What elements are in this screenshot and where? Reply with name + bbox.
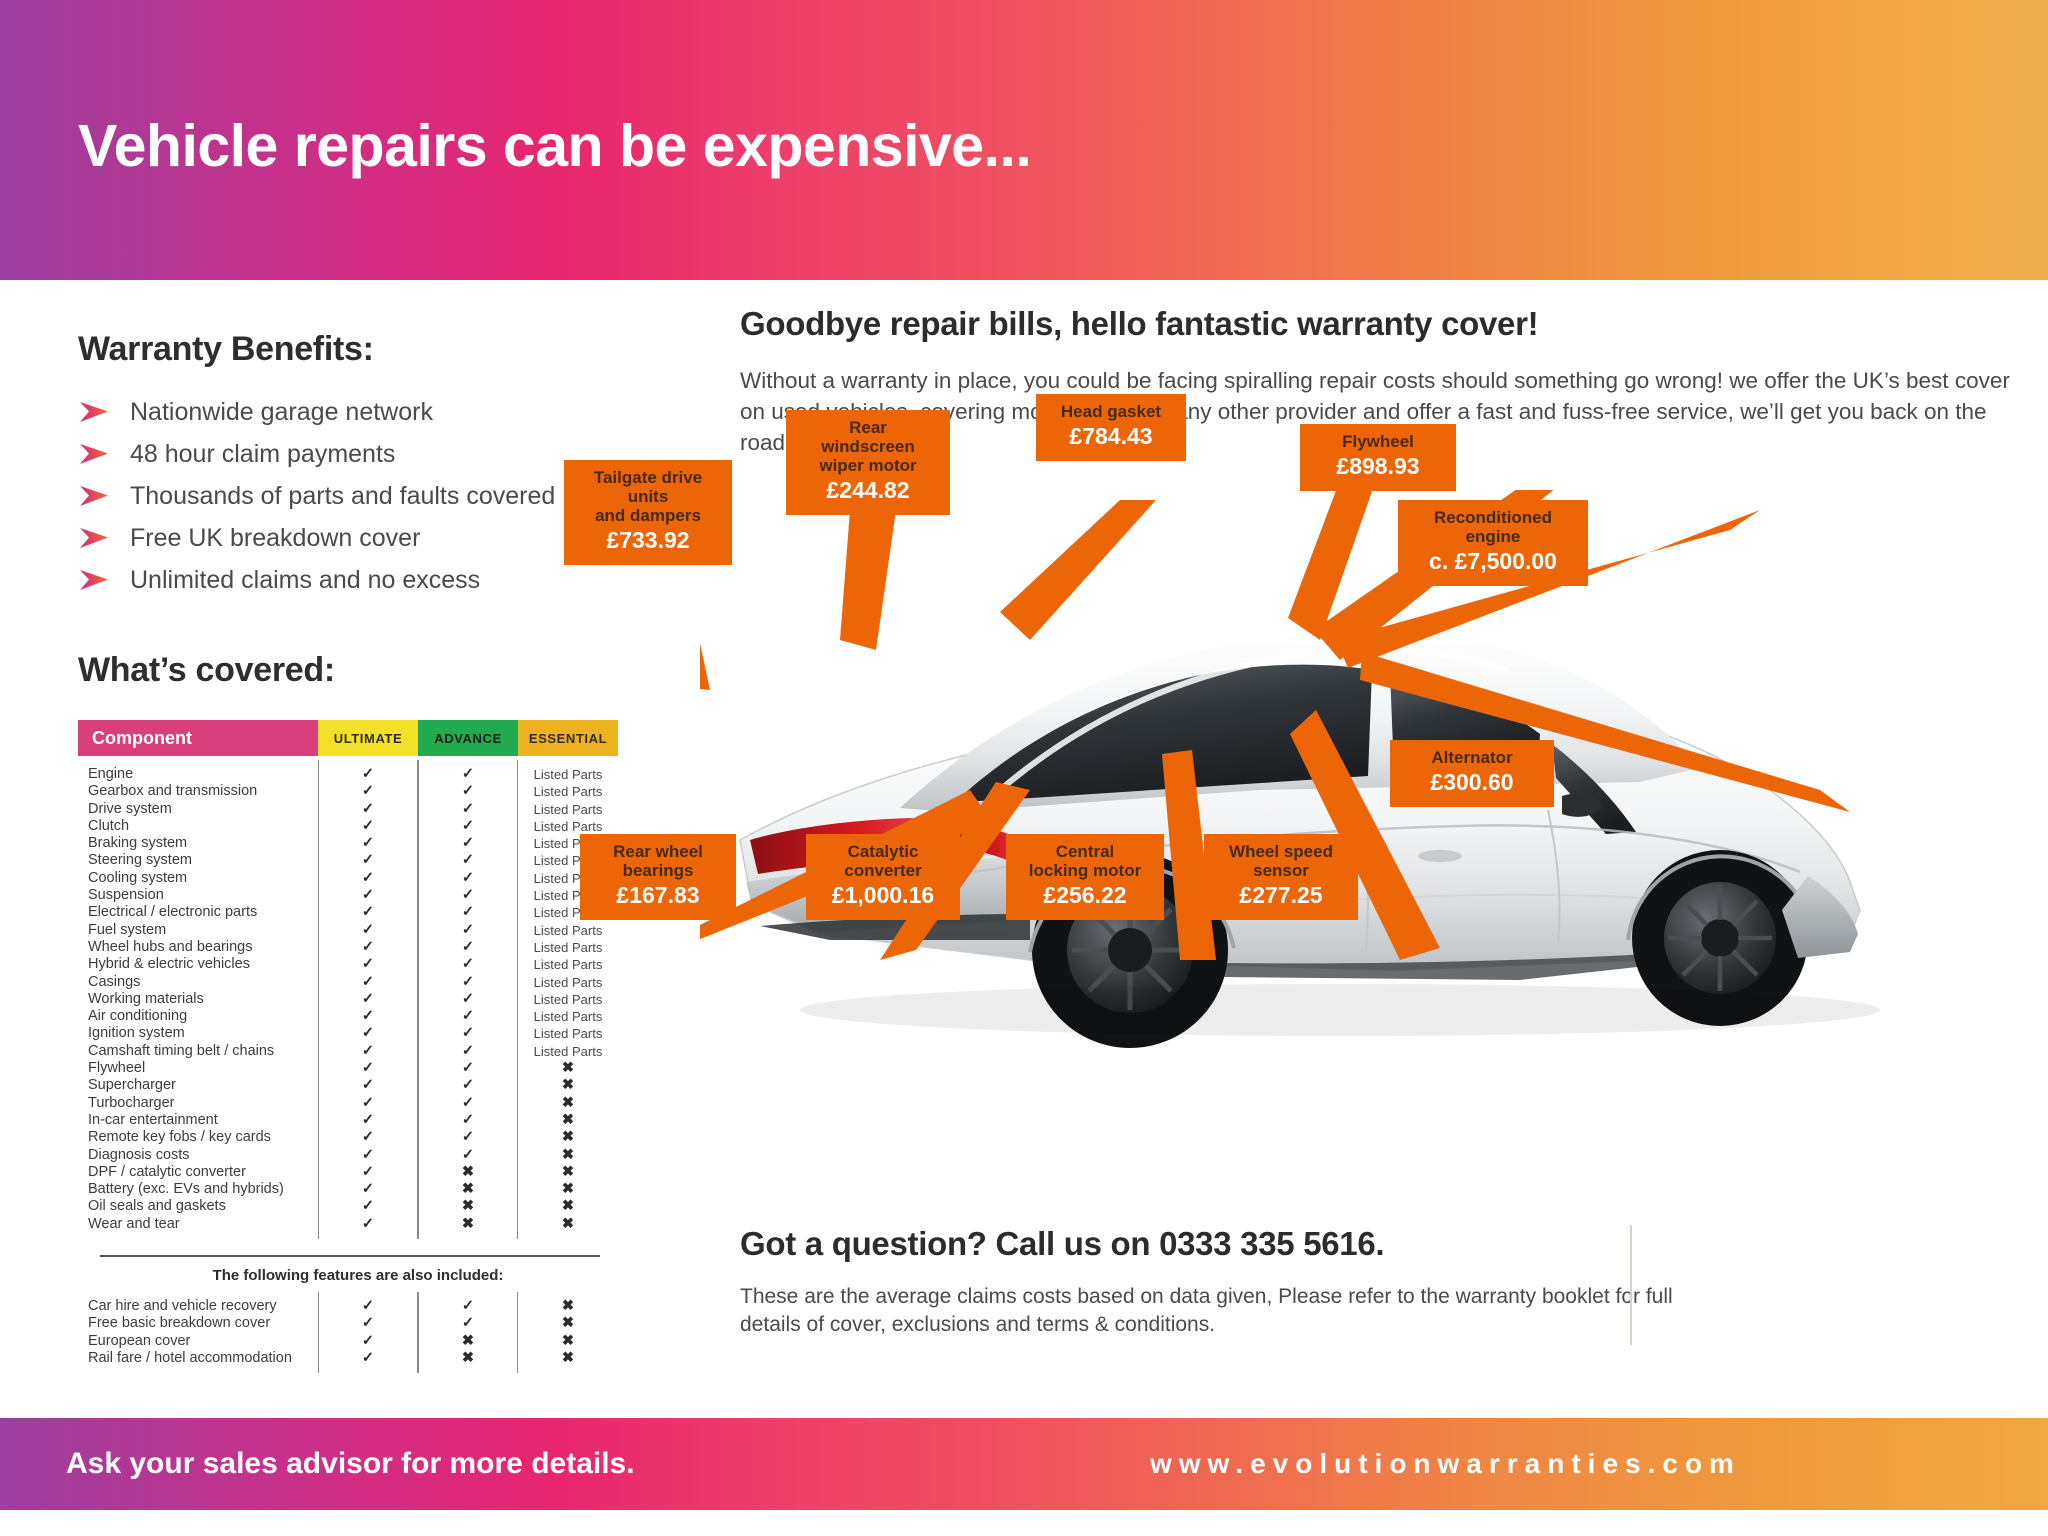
table-row: Drive system [88,801,318,818]
table-row: Cooling system [88,870,318,887]
check-icon: ✓ [318,1025,418,1042]
check-icon: ✓ [418,818,518,835]
check-icon: ✓ [318,1216,418,1233]
table-row: Oil seals and gaskets [88,1198,318,1215]
feature-ultimate-column: ✓✓✓✓ [318,1298,418,1367]
check-icon: ✓ [418,991,518,1008]
check-icon: ✓ [318,801,418,818]
listed-parts-label: Listed Parts [518,818,618,835]
callout-alternator: Alternator £300.60 [1390,740,1554,807]
chevron-right-icon [78,485,112,507]
callout-catalytic-converter: Catalyticconverter £1,000.16 [806,834,960,920]
check-icon: ✓ [318,1060,418,1077]
table-row: Turbocharger [88,1095,318,1112]
cross-icon: ✖ [418,1164,518,1181]
check-icon: ✓ [318,1095,418,1112]
table-row: Electrical / electronic parts [88,904,318,921]
table-row: DPF / catalytic converter [88,1164,318,1181]
callout-label: Catalyticconverter [820,842,946,880]
listed-parts-label: Listed Parts [518,1025,618,1042]
check-icon: ✓ [418,922,518,939]
callout-label: Flywheel [1314,432,1442,451]
list-item: Free UK breakdown cover [78,517,648,559]
check-icon: ✓ [418,1315,518,1332]
car-diagram: Tailgate drive unitsand dampers £733.92 … [700,490,2030,1180]
column-header-component: Component [78,720,318,756]
chevron-right-icon [78,401,112,423]
callout-reconditioned-engine: Reconditionedengine c. £7,500.00 [1398,500,1588,586]
table-row: Steering system [88,852,318,869]
table-row: Flywheel [88,1060,318,1077]
check-icon: ✓ [318,1164,418,1181]
table-row: Wheel hubs and bearings [88,939,318,956]
advance-marks-column: ✓✓✓✓✓✓✓✓✓✓✓✓✓✓✓✓✓✓✓✓✓✓✓✖✖✖✖ [418,766,518,1233]
benefit-label: Nationwide garage network [130,398,433,427]
table-row: Fuel system [88,922,318,939]
listed-parts-label: Listed Parts [518,1043,618,1060]
check-icon: ✓ [318,974,418,991]
callout-label: Tailgate drive unitsand dampers [578,468,718,525]
callout-price: £244.82 [800,477,936,504]
table-row: Air conditioning [88,1008,318,1025]
chevron-right-icon [78,443,112,465]
cross-icon: ✖ [418,1216,518,1233]
warranty-benefits-heading: Warranty Benefits: [78,330,648,369]
listed-parts-label: Listed Parts [518,1008,618,1025]
callout-label: Rear windscreenwiper motor [800,418,936,475]
check-icon: ✓ [418,1129,518,1146]
callout-flywheel: Flywheel £898.93 [1300,424,1456,491]
check-icon: ✓ [318,870,418,887]
bottom-white-strip [0,1510,2048,1536]
table-row: Engine [88,766,318,783]
callout-wheel-speed-sensor: Wheel speedsensor £277.25 [1204,834,1358,920]
callout-price: £300.60 [1404,769,1540,796]
coverage-table: Component ULTIMATE ADVANCE ESSENTIAL Eng… [78,720,638,1367]
chevron-right-icon [78,569,112,591]
ultimate-marks-column: ✓✓✓✓✓✓✓✓✓✓✓✓✓✓✓✓✓✓✓✓✓✓✓✓✓✓✓ [318,766,418,1233]
contact-block: Got a question? Call us on 0333 335 5616… [740,1225,1690,1339]
features-body: Car hire and vehicle recoveryFree basic … [78,1298,638,1367]
cross-icon: ✖ [418,1198,518,1215]
callout-price: £898.93 [1314,453,1442,480]
table-row: Wear and tear [88,1216,318,1233]
check-icon: ✓ [418,1025,518,1042]
callout-tailgate: Tailgate drive unitsand dampers £733.92 [564,460,732,565]
table-row: Car hire and vehicle recovery [88,1298,318,1315]
list-item: Nationwide garage network [78,391,648,433]
check-icon: ✓ [318,1008,418,1025]
cross-icon: ✖ [518,1298,618,1315]
check-icon: ✓ [418,1060,518,1077]
cross-icon: ✖ [518,1060,618,1077]
table-row: Camshaft timing belt / chains [88,1043,318,1060]
table-row: Ignition system [88,1025,318,1042]
table-row: Supercharger [88,1077,318,1094]
cross-icon: ✖ [518,1333,618,1350]
callout-price: £1,000.16 [820,882,946,909]
cross-icon: ✖ [518,1198,618,1215]
check-icon: ✓ [418,852,518,869]
check-icon: ✓ [418,1112,518,1129]
check-icon: ✓ [318,956,418,973]
table-row: Clutch [88,818,318,835]
check-icon: ✓ [318,766,418,783]
check-icon: ✓ [418,835,518,852]
benefit-label: Thousands of parts and faults covered [130,482,555,511]
check-icon: ✓ [418,870,518,887]
check-icon: ✓ [318,1333,418,1350]
check-icon: ✓ [418,1008,518,1025]
column-header-ultimate: ULTIMATE [318,720,418,756]
table-row: In-car entertainment [88,1112,318,1129]
cross-icon: ✖ [518,1350,618,1367]
check-icon: ✓ [318,904,418,921]
contact-heading: Got a question? Call us on 0333 335 5616… [740,1225,1690,1263]
listed-parts-label: Listed Parts [518,939,618,956]
table-row: Rail fare / hotel accommodation [88,1350,318,1367]
check-icon: ✓ [418,956,518,973]
check-icon: ✓ [318,1298,418,1315]
check-icon: ✓ [418,801,518,818]
check-icon: ✓ [318,852,418,869]
table-row: Working materials [88,991,318,1008]
table-row: Suspension [88,887,318,904]
table-row: Braking system [88,835,318,852]
callout-price: £784.43 [1050,423,1172,450]
feature-essential-column: ✖✖✖✖ [518,1298,618,1367]
feature-name-column: Car hire and vehicle recoveryFree basic … [78,1298,318,1367]
vertical-divider [1630,1225,1632,1345]
check-icon: ✓ [318,835,418,852]
table-row: Battery (exc. EVs and hybrids) [88,1181,318,1198]
column-header-essential: ESSENTIAL [518,720,618,756]
list-item: Unlimited claims and no excess [78,559,648,601]
cross-icon: ✖ [418,1350,518,1367]
callout-price: £256.22 [1020,882,1150,909]
cross-icon: ✖ [518,1164,618,1181]
callout-rear-wheel-bearings: Rear wheelbearings £167.83 [580,834,736,920]
table-row: Casings [88,974,318,991]
check-icon: ✓ [318,1315,418,1332]
cross-icon: ✖ [418,1333,518,1350]
check-icon: ✓ [318,922,418,939]
callout-label: Rear wheelbearings [594,842,722,880]
callout-central-locking-motor: Centrallocking motor £256.22 [1006,834,1164,920]
listed-parts-label: Listed Parts [518,766,618,783]
footer-website-link[interactable]: www.evolutionwarranties.com [1150,1448,1741,1480]
callout-price: £167.83 [594,882,722,909]
benefit-label: 48 hour claim payments [130,440,395,469]
list-item: Thousands of parts and faults covered [78,475,648,517]
check-icon: ✓ [418,887,518,904]
listed-parts-label: Listed Parts [518,956,618,973]
check-icon: ✓ [318,887,418,904]
table-row: European cover [88,1333,318,1350]
left-column: Warranty Benefits: Nationwide garage net… [78,330,648,1367]
table-row: Gearbox and transmission [88,783,318,800]
table-header-row: Component ULTIMATE ADVANCE ESSENTIAL [78,720,638,756]
benefit-label: Free UK breakdown cover [130,524,420,553]
check-icon: ✓ [418,1147,518,1164]
column-header-advance: ADVANCE [418,720,518,756]
top-banner: Vehicle repairs can be expensive... [0,0,2048,280]
cross-icon: ✖ [518,1077,618,1094]
check-icon: ✓ [418,904,518,921]
callout-price: c. £7,500.00 [1412,548,1574,575]
check-icon: ✓ [418,1298,518,1315]
right-heading: Goodbye repair bills, hello fantastic wa… [740,305,2010,343]
check-icon: ✓ [418,766,518,783]
check-icon: ✓ [318,1129,418,1146]
check-icon: ✓ [418,1043,518,1060]
listed-parts-label: Listed Parts [518,783,618,800]
disclaimer-text: These are the average claims costs based… [740,1283,1690,1339]
listed-parts-label: Listed Parts [518,974,618,991]
table-row: Diagnosis costs [88,1147,318,1164]
check-icon: ✓ [318,1077,418,1094]
check-icon: ✓ [418,974,518,991]
component-name-column: EngineGearbox and transmissionDrive syst… [78,766,318,1233]
list-item: 48 hour claim payments [78,433,648,475]
cross-icon: ✖ [518,1095,618,1112]
cross-icon: ✖ [518,1147,618,1164]
check-icon: ✓ [318,1198,418,1215]
listed-parts-label: Listed Parts [518,801,618,818]
cross-icon: ✖ [518,1315,618,1332]
check-icon: ✓ [418,939,518,956]
callout-label: Alternator [1404,748,1540,767]
warranty-benefits-list: Nationwide garage network 48 hour claim … [78,391,648,601]
cross-icon: ✖ [518,1216,618,1233]
check-icon: ✓ [318,1181,418,1198]
table-row: Hybrid & electric vehicles [88,956,318,973]
page-title: Vehicle repairs can be expensive... [78,112,1031,180]
table-body: EngineGearbox and transmissionDrive syst… [78,756,638,1233]
callout-label: Reconditionedengine [1412,508,1574,546]
callout-label: Wheel speedsensor [1218,842,1344,880]
callout-rear-windscreen-wiper-motor: Rear windscreenwiper motor £244.82 [786,410,950,515]
check-icon: ✓ [318,818,418,835]
check-icon: ✓ [318,1112,418,1129]
footer-cta-text: Ask your sales advisor for more details. [66,1447,635,1481]
callout-price: £277.25 [1218,882,1344,909]
callout-label: Centrallocking motor [1020,842,1150,880]
check-icon: ✓ [418,1095,518,1112]
cross-icon: ✖ [518,1129,618,1146]
check-icon: ✓ [318,1350,418,1367]
footer-bar: Ask your sales advisor for more details.… [0,1418,2048,1510]
cross-icon: ✖ [518,1181,618,1198]
divider [100,1255,600,1257]
check-icon: ✓ [418,1077,518,1094]
whats-covered-heading: What’s covered: [78,651,648,690]
callout-label: Head gasket [1050,402,1172,421]
check-icon: ✓ [318,991,418,1008]
table-row: Free basic breakdown cover [88,1315,318,1332]
check-icon: ✓ [318,1147,418,1164]
check-icon: ✓ [318,1043,418,1060]
feature-advance-column: ✓✓✖✖ [418,1298,518,1367]
listed-parts-label: Listed Parts [518,922,618,939]
cross-icon: ✖ [518,1112,618,1129]
benefit-label: Unlimited claims and no excess [130,566,480,595]
table-row: Remote key fobs / key cards [88,1129,318,1146]
callout-head-gasket: Head gasket £784.43 [1036,394,1186,461]
check-icon: ✓ [318,783,418,800]
features-caption: The following features are also included… [78,1267,638,1284]
listed-parts-label: Listed Parts [518,991,618,1008]
check-icon: ✓ [318,939,418,956]
cross-icon: ✖ [418,1181,518,1198]
chevron-right-icon [78,527,112,549]
check-icon: ✓ [418,783,518,800]
callout-price: £733.92 [578,527,718,554]
